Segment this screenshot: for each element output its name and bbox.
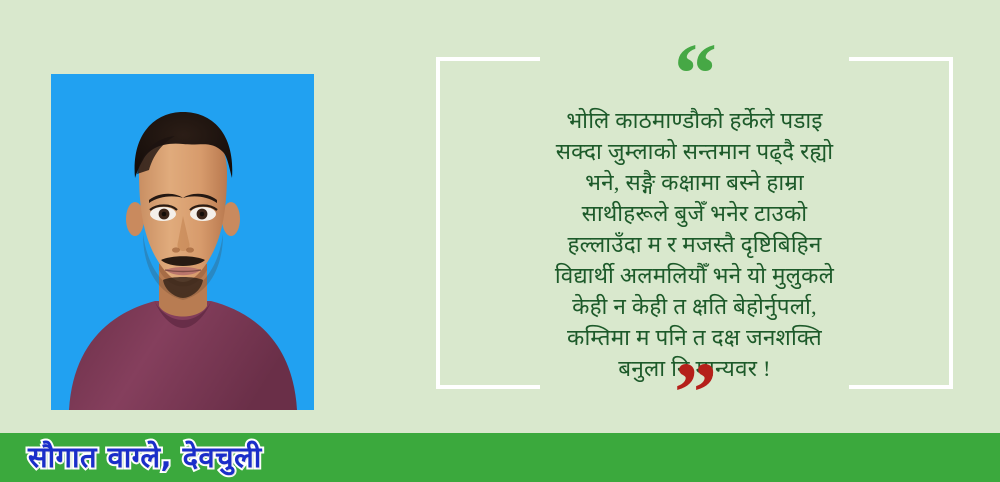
quote-text: भोलि काठमाण्डौको हर्केले पडाइ सक्दा जुम्…: [458, 105, 931, 384]
quote-line: भोलि काठमाण्डौको हर्केले पडाइ: [458, 105, 931, 136]
opening-quote-icon: “: [436, 30, 953, 116]
closing-quote-icon: ”: [436, 349, 953, 435]
quote-line: भने, सङ्गै कक्षामा बस्ने हाम्रा: [458, 167, 931, 198]
portrait-photo-image: [51, 74, 314, 410]
quote-line: हल्लाउँदा म र मजस्तै दृष्टिबिहिन: [458, 229, 931, 260]
attribution-bar: सौगात वाग्ले, देवचुली: [0, 433, 1000, 482]
quote-line: विद्यार्थी अलमलियौँ भने यो मुलुकले: [458, 260, 931, 291]
quote-line: साथीहरूले बुजेँ भनेर टाउको: [458, 198, 931, 229]
author-name: सौगात वाग्ले, देवचुली: [28, 443, 262, 472]
portrait-photo: [51, 74, 314, 410]
quote-poster: “ भोलि काठमाण्डौको हर्केले पडाइ सक्दा जु…: [0, 0, 1000, 482]
quote-line: केही न केही त क्षति बेहोर्नुपर्ला,: [458, 291, 931, 322]
quote-card: “ भोलि काठमाण्डौको हर्केले पडाइ सक्दा जु…: [436, 57, 953, 389]
quote-line: सक्दा जुम्लाको सन्तमान पढ्दै रह्यो: [458, 136, 931, 167]
